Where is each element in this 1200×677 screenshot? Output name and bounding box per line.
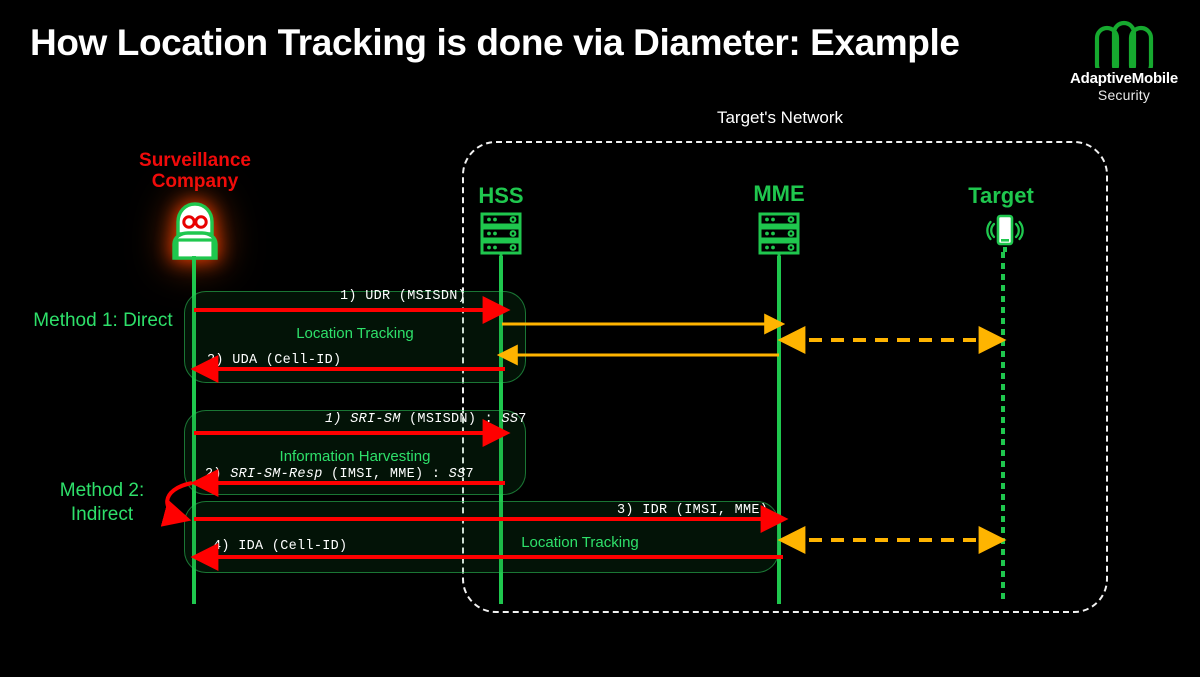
slide-canvas: How Location Tracking is done via Diamet…: [0, 0, 1200, 677]
message-label-1-udr: 1) UDR (MSISDN): [340, 289, 466, 304]
logo-wordmark-secondary: Security: [1062, 87, 1186, 103]
actor-label-target: Target: [951, 183, 1051, 209]
network-boundary-label: Target's Network: [620, 108, 940, 128]
actor-label-hss: HSS: [451, 183, 551, 209]
method-label-2: Method 2: Indirect: [22, 479, 182, 527]
message-label-2-sri-sm-resp: 2) SRI-SM-Resp (IMSI, MME) : SS7: [205, 467, 474, 482]
page-title: How Location Tracking is done via Diamet…: [30, 22, 960, 64]
mobile-phone-signal-icon: [981, 213, 1029, 259]
actor-label-mme: MME: [729, 181, 829, 207]
hacker-laptop-icon: [160, 200, 230, 262]
server-stack-icon-mme: [756, 212, 802, 262]
lifeline-target: [1001, 252, 1005, 604]
server-stack-icon-hss: [478, 212, 524, 262]
message-label-2-uda: 2) UDA (Cell-ID): [207, 353, 341, 368]
method-label-1: Method 1: Direct: [18, 310, 188, 332]
adaptivemobile-arches-icon: [1091, 14, 1157, 68]
logo-wordmark-primary: AdaptiveMobile: [1062, 70, 1186, 87]
phase-title-information-harvesting: Information Harvesting: [184, 448, 526, 465]
actor-label-surveillance: Surveillance Company: [124, 150, 266, 193]
brand-logo: AdaptiveMobile Security: [1062, 14, 1186, 103]
method-2-line1: Method 2:: [60, 480, 145, 501]
message-label-3-idr: 3) IDR (IMSI, MME): [617, 503, 768, 518]
message-label-4-ida: 4) IDA (Cell-ID): [213, 539, 347, 554]
phase-title-location-tracking-2: Location Tracking: [380, 534, 780, 551]
message-label-1-sri-sm: 1) SRI-SM (MSISDN) : SS7: [325, 412, 527, 427]
method-2-line2: Indirect: [71, 504, 133, 525]
surveillance-label-line2: Company: [152, 171, 239, 192]
phase-title-location-tracking-1: Location Tracking: [184, 325, 526, 342]
surveillance-label-line1: Surveillance: [139, 150, 251, 171]
